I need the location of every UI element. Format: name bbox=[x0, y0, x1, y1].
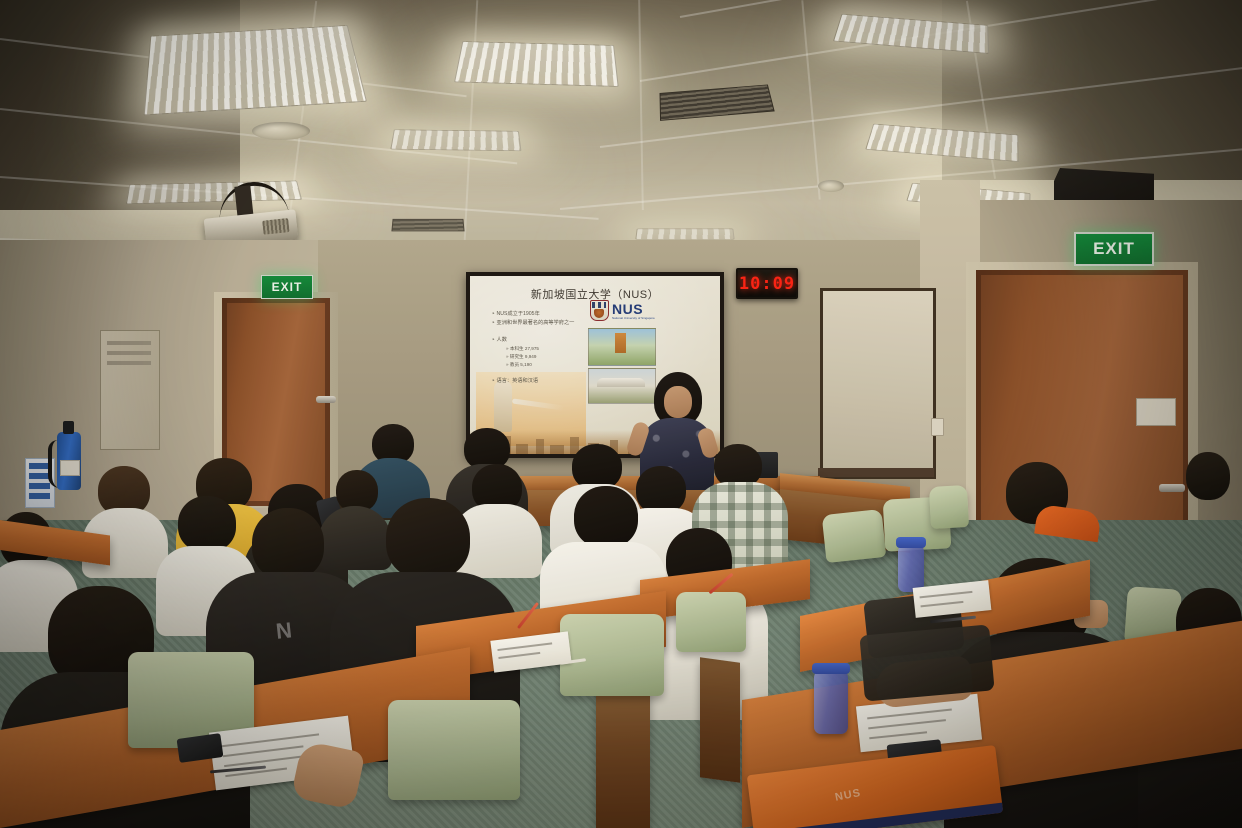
slide-sub-bullet-1: » 研究生 9,949 bbox=[506, 353, 574, 361]
chair[interactable] bbox=[388, 700, 520, 800]
nus-logo-subtext: National University of Singapore bbox=[612, 316, 655, 320]
presenter-face bbox=[664, 386, 692, 418]
student-head bbox=[1186, 452, 1230, 500]
slide-bullet-1: ‣ 亚洲和世界最著名的高等学府之一 bbox=[492, 319, 574, 328]
chair[interactable] bbox=[676, 592, 746, 652]
fire-extinguisher bbox=[57, 432, 81, 490]
empty-chair[interactable] bbox=[822, 509, 887, 563]
classroom-photo-scene: EXIT EXIT 新加坡国立大学（NUS） ‣ bbox=[0, 0, 1242, 828]
student-head bbox=[636, 466, 686, 514]
empty-chair[interactable] bbox=[929, 485, 969, 529]
student-head bbox=[178, 496, 236, 552]
desk-side-panel bbox=[596, 690, 650, 828]
water-bottle[interactable] bbox=[898, 546, 924, 592]
slide-section-label: ‣ 人数 bbox=[492, 336, 574, 345]
water-bottle-foreground[interactable] bbox=[814, 672, 848, 734]
ceiling-light-fixture bbox=[454, 41, 619, 87]
slide-body: ‣ NUS成立于1905年 ‣ 亚洲和世界最著名的高等学府之一 ‣ 人数 » 本… bbox=[492, 310, 574, 386]
exit-sign-left-label: EXIT bbox=[272, 280, 303, 294]
student-torso bbox=[318, 506, 392, 570]
student-head bbox=[252, 508, 324, 580]
door-notice-sign bbox=[1136, 398, 1176, 426]
light-switch[interactable] bbox=[931, 418, 944, 436]
slide-footer: ‣ 语言：英语和汉语 bbox=[492, 377, 574, 386]
ceiling-light-fixture bbox=[390, 129, 521, 151]
exit-sign-left: EXIT bbox=[261, 275, 313, 299]
whiteboard bbox=[820, 288, 936, 479]
exit-sign-right: EXIT bbox=[1074, 232, 1154, 266]
student-head-foreground bbox=[386, 498, 470, 580]
slide-sub-bullet-0: » 本科生 27,975 bbox=[506, 345, 574, 353]
wall-service-panel bbox=[100, 330, 160, 450]
ceiling-light-fixture bbox=[144, 25, 367, 115]
student-head bbox=[574, 486, 638, 548]
desk-side-panel bbox=[700, 657, 740, 783]
tote-bag-brand: NUS bbox=[834, 787, 862, 804]
digital-wall-clock: 10:09 bbox=[736, 268, 798, 299]
ceiling-diffuser bbox=[252, 122, 310, 140]
nus-logo: NUS National University of Singapore bbox=[590, 300, 655, 321]
slide-photo-campus-building bbox=[588, 328, 656, 366]
slide-bullet-0: ‣ NUS成立于1905年 bbox=[492, 310, 574, 319]
nus-crest-icon bbox=[590, 300, 609, 321]
door-handle-right[interactable] bbox=[1159, 484, 1185, 492]
door-handle-left[interactable] bbox=[316, 396, 336, 403]
clock-time: 10:09 bbox=[739, 274, 795, 294]
exit-sign-right-label: EXIT bbox=[1093, 239, 1135, 259]
backpack[interactable] bbox=[859, 624, 994, 701]
nus-wordmark: NUS bbox=[612, 302, 655, 316]
slide-sub-bullet-2: » 教员 5,190 bbox=[506, 361, 574, 369]
shirt-graphic: N bbox=[275, 617, 296, 645]
chair[interactable] bbox=[560, 614, 664, 696]
ceiling-light-fixture bbox=[635, 229, 734, 240]
smoke-detector-icon bbox=[818, 180, 844, 192]
ceiling-air-vent bbox=[391, 219, 464, 232]
slide-photo-modern-building bbox=[588, 368, 656, 404]
whiteboard-marker-ledge bbox=[818, 468, 934, 477]
